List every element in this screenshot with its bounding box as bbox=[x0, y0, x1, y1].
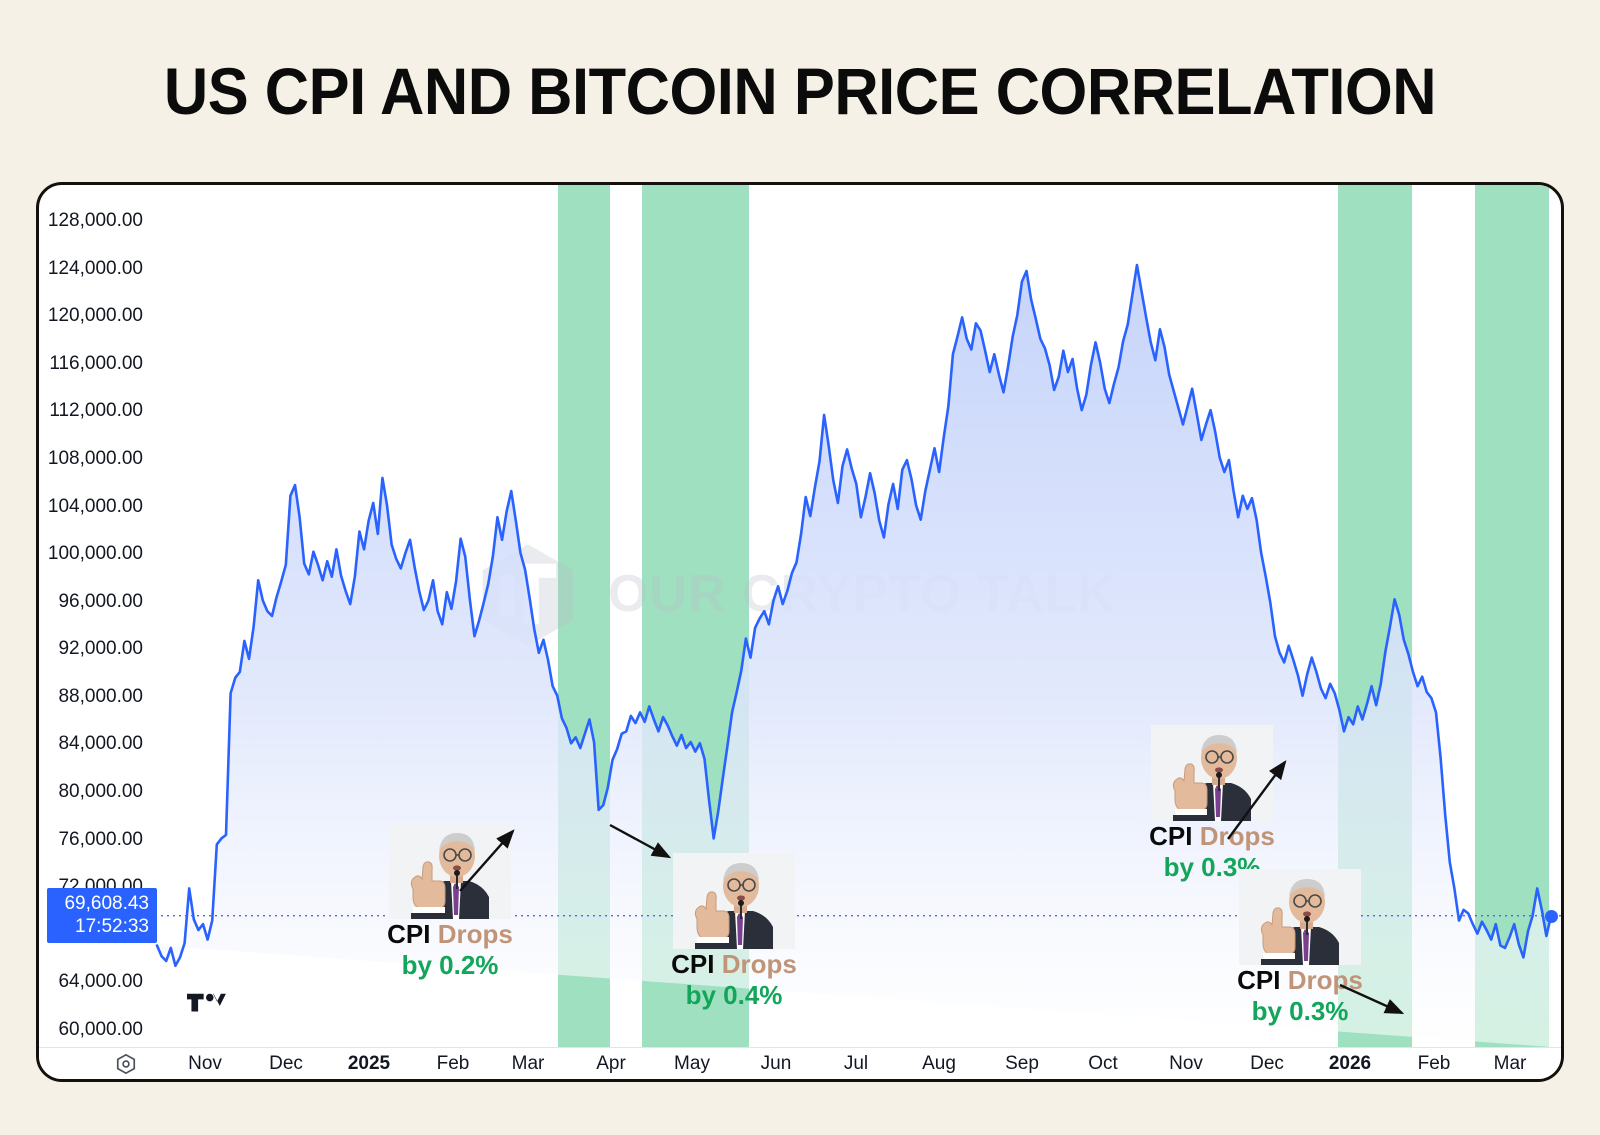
x-axis-tick: Feb bbox=[437, 1053, 470, 1075]
annotation-percent: by 0.2% bbox=[335, 949, 565, 981]
last-price-value: 69,608.43 bbox=[55, 892, 149, 915]
last-price-badge[interactable]: 69,608.43 17:52:33 bbox=[47, 888, 157, 943]
annotation-cpi-word: CPI bbox=[387, 919, 430, 949]
chart-panel: OUR CRYPTO TALK 128,000.00124,000.00120,… bbox=[36, 182, 1564, 1082]
annotation-drops-word: Drops bbox=[438, 919, 513, 949]
annotation-cpi-word: CPI bbox=[671, 949, 714, 979]
hexagon-target-icon[interactable] bbox=[115, 1053, 137, 1075]
x-axis-tick: Mar bbox=[1494, 1053, 1527, 1075]
annotation-cpi-drop-1: CPI Drops by 0.2% bbox=[335, 823, 565, 981]
annotation-drops-word: Drops bbox=[722, 949, 797, 979]
x-axis-tick: Nov bbox=[1169, 1053, 1203, 1075]
x-axis-tick: Feb bbox=[1418, 1053, 1451, 1075]
x-axis-tick: Apr bbox=[596, 1053, 626, 1075]
x-axis-tick: Oct bbox=[1088, 1053, 1118, 1075]
x-axis-tick: Dec bbox=[269, 1053, 303, 1075]
annotation-percent: by 0.3% bbox=[1185, 995, 1415, 1027]
annotation-label: CPI Drops bbox=[335, 919, 565, 949]
annotation-label: CPI Drops bbox=[619, 949, 849, 979]
annotation-percent: by 0.4% bbox=[619, 979, 849, 1011]
annotation-drops-word: Drops bbox=[1288, 965, 1363, 995]
plot-area[interactable]: OUR CRYPTO TALK 128,000.00124,000.00120,… bbox=[39, 185, 1561, 1079]
x-axis-tick: Jul bbox=[844, 1053, 868, 1075]
annotation-drops-word: Drops bbox=[1200, 821, 1275, 851]
powell-thumbs-up-icon bbox=[389, 823, 511, 919]
page-title: US CPI AND BITCOIN PRICE CORRELATION bbox=[56, 52, 1544, 130]
annotation-cpi-drop-4: CPI Drops by 0.3% bbox=[1185, 869, 1415, 1027]
x-axis-tick: Nov bbox=[188, 1053, 222, 1075]
x-axis-tick: May bbox=[674, 1053, 710, 1075]
tradingview-logo-icon[interactable] bbox=[187, 993, 227, 1019]
powell-thumbs-up-icon bbox=[673, 853, 795, 949]
x-axis-tick: Sep bbox=[1005, 1053, 1039, 1075]
x-axis-tick: 2026 bbox=[1329, 1053, 1371, 1075]
annotation-cpi-word: CPI bbox=[1237, 965, 1280, 995]
x-axis: NovDec2025FebMarAprMayJunJulAugSepOctNov… bbox=[39, 1047, 1561, 1079]
annotation-cpi-drop-2: CPI Drops by 0.4% bbox=[619, 853, 849, 1011]
x-axis-tick: Aug bbox=[922, 1053, 956, 1075]
x-axis-tick: Mar bbox=[512, 1053, 545, 1075]
x-axis-tick: 2025 bbox=[348, 1053, 390, 1075]
last-price-time: 17:52:33 bbox=[55, 915, 149, 938]
powell-thumbs-up-icon bbox=[1239, 869, 1361, 965]
powell-thumbs-up-icon bbox=[1151, 725, 1273, 821]
annotation-cpi-word: CPI bbox=[1149, 821, 1192, 851]
x-axis-tick: Dec bbox=[1250, 1053, 1284, 1075]
annotation-label: CPI Drops bbox=[1185, 965, 1415, 995]
last-price-dot bbox=[1545, 910, 1558, 923]
annotation-cpi-drop-3: CPI Drops by 0.3% bbox=[1097, 725, 1327, 883]
annotation-label: CPI Drops bbox=[1097, 821, 1327, 851]
x-axis-tick: Jun bbox=[761, 1053, 792, 1075]
